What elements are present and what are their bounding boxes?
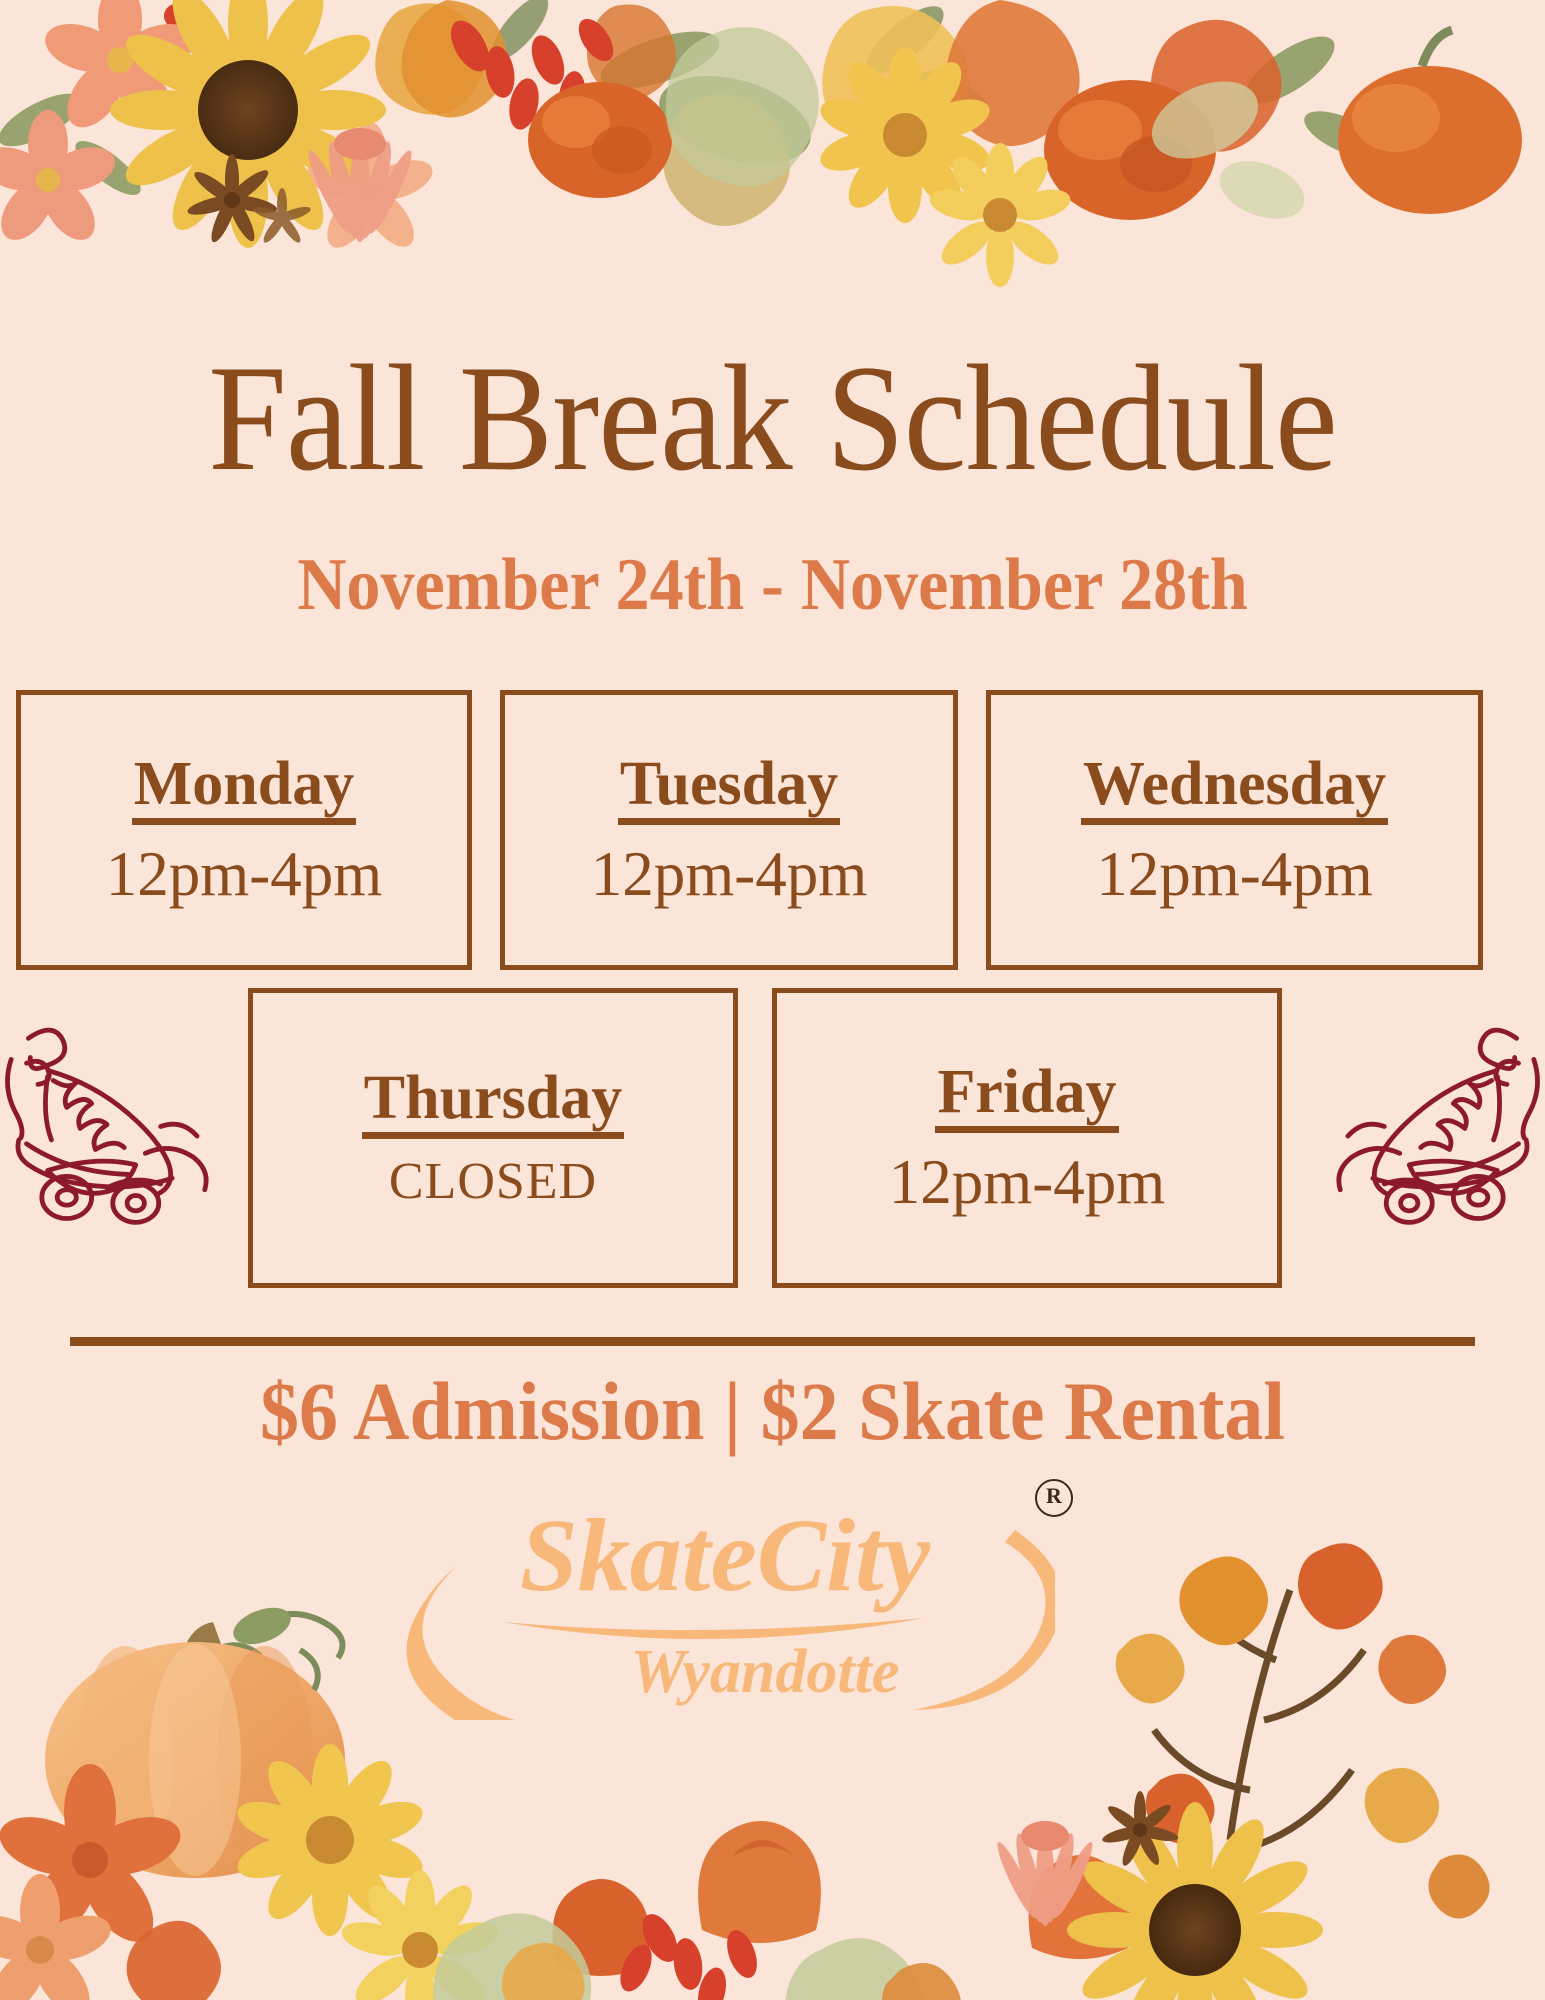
- day-label: Tuesday: [618, 753, 840, 825]
- skate-city-logo: SkateCity Wyandotte: [395, 1470, 1055, 1720]
- day-hours: 12pm-4pm: [591, 841, 868, 907]
- roller-skate-icon: [0, 1000, 222, 1230]
- day-hours: 12pm-4pm: [1096, 841, 1373, 907]
- schedule-box-thursday: Thursday CLOSED: [248, 988, 738, 1288]
- top-floral-garland: [0, 0, 1545, 300]
- day-hours: CLOSED: [389, 1155, 597, 1210]
- logo-location-text: Wyandotte: [631, 1638, 900, 1706]
- roller-skate-icon: [1323, 1000, 1545, 1230]
- schedule-box-tuesday: Tuesday 12pm-4pm: [500, 690, 958, 970]
- poster-title: Fall Break Schedule: [54, 342, 1491, 494]
- poster-date-range: November 24th - November 28th: [62, 548, 1483, 622]
- registered-trademark-icon: R: [1035, 1477, 1073, 1517]
- logo-brand-text: SkateCity: [520, 1498, 931, 1613]
- admission-price-line: $6 Admission | $2 Skate Rental: [46, 1370, 1498, 1453]
- schedule-box-monday: Monday 12pm-4pm: [16, 690, 472, 970]
- day-label: Monday: [132, 753, 356, 825]
- schedule-box-wednesday: Wednesday 12pm-4pm: [986, 690, 1483, 970]
- day-hours: 12pm-4pm: [889, 1149, 1166, 1215]
- poster-canvas: Fall Break Schedule November 24th - Nove…: [0, 0, 1545, 2000]
- day-label: Wednesday: [1081, 753, 1388, 825]
- day-label: Thursday: [362, 1067, 624, 1139]
- day-hours: 12pm-4pm: [106, 841, 383, 907]
- day-label: Friday: [935, 1061, 1118, 1133]
- registered-trademark-letter: R: [1035, 1479, 1073, 1517]
- schedule-box-friday: Friday 12pm-4pm: [772, 988, 1282, 1288]
- section-divider: [70, 1337, 1475, 1346]
